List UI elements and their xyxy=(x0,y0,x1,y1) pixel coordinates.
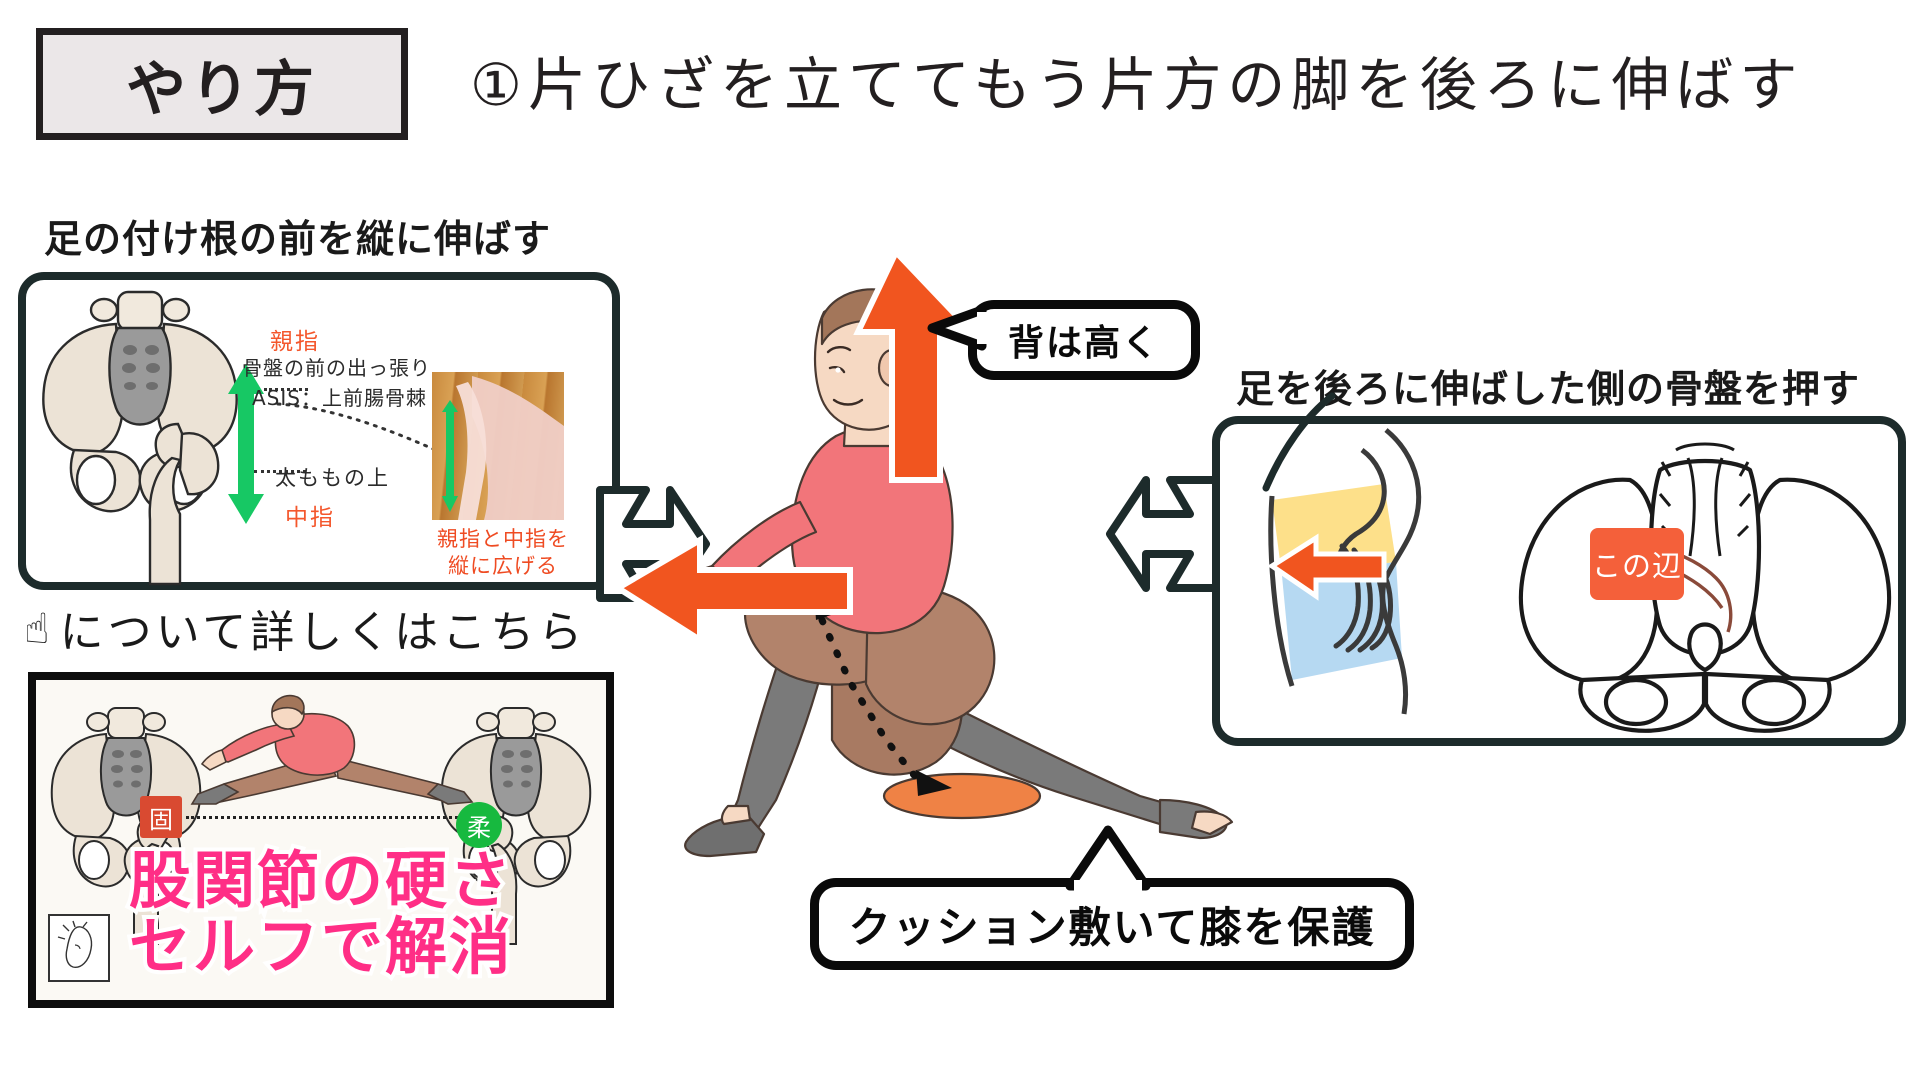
bubble-posture-label: 背は高く xyxy=(1008,314,1160,366)
video-thumbnail[interactable]: 固 柔 股関節の硬さ セルフで解消 xyxy=(28,672,614,1008)
page-title: ①片ひざを立ててもう片方の脚を後ろに伸ばす xyxy=(470,42,1810,128)
hand-on-hip-photo xyxy=(432,372,564,520)
face-line-art-icon xyxy=(48,914,110,982)
more-info-link[interactable]: ☝ について詳しくはこちら xyxy=(24,600,664,656)
more-info-link-label: について詳しくはこちら xyxy=(60,596,587,660)
pelvis-posterior-illustration xyxy=(1510,436,1900,734)
pointer-curve-right xyxy=(1196,392,1336,532)
bubble-posture-tail xyxy=(928,306,984,358)
thumb-comparison-line xyxy=(186,816,458,819)
header-badge-label: やり方 xyxy=(126,41,318,128)
thumb-title-line2: セルフで解消 xyxy=(36,896,606,986)
bubble-cushion-label: クッション敷いて膝を保護 xyxy=(849,894,1376,955)
label-asis-description: 骨盤の前の出っ張り xyxy=(242,352,431,381)
left-panel-title: 足の付け根の前を縦に伸ばす xyxy=(44,208,551,263)
slide-canvas: やり方 ①片ひざを立ててもう片方の脚を後ろに伸ばす 足の付け根の前を縦に伸ばす xyxy=(0,0,1920,1080)
label-thigh-top: 太ももの上 xyxy=(275,462,390,492)
label-thumb: 親指 xyxy=(270,322,320,356)
pointing-up-finger-icon: ☝ xyxy=(24,604,54,653)
photo-caption-line1: 親指と中指を xyxy=(428,526,578,553)
photo-caption-line2: 縦に広げる xyxy=(428,553,578,580)
label-asis-term: ASIS：上前腸骨棘 xyxy=(252,382,427,411)
thumb-person-stretching xyxy=(176,692,476,816)
bubble-posture: 背は高く xyxy=(968,300,1200,380)
header-badge: やり方 xyxy=(36,28,408,140)
bubble-cushion-tail xyxy=(1062,826,1154,892)
here-area-badge-label: この辺 xyxy=(1592,543,1682,585)
label-middle-finger: 中指 xyxy=(285,498,335,532)
here-area-badge: この辺 xyxy=(1590,528,1684,600)
photo-caption: 親指と中指を 縦に広げる xyxy=(428,526,578,580)
